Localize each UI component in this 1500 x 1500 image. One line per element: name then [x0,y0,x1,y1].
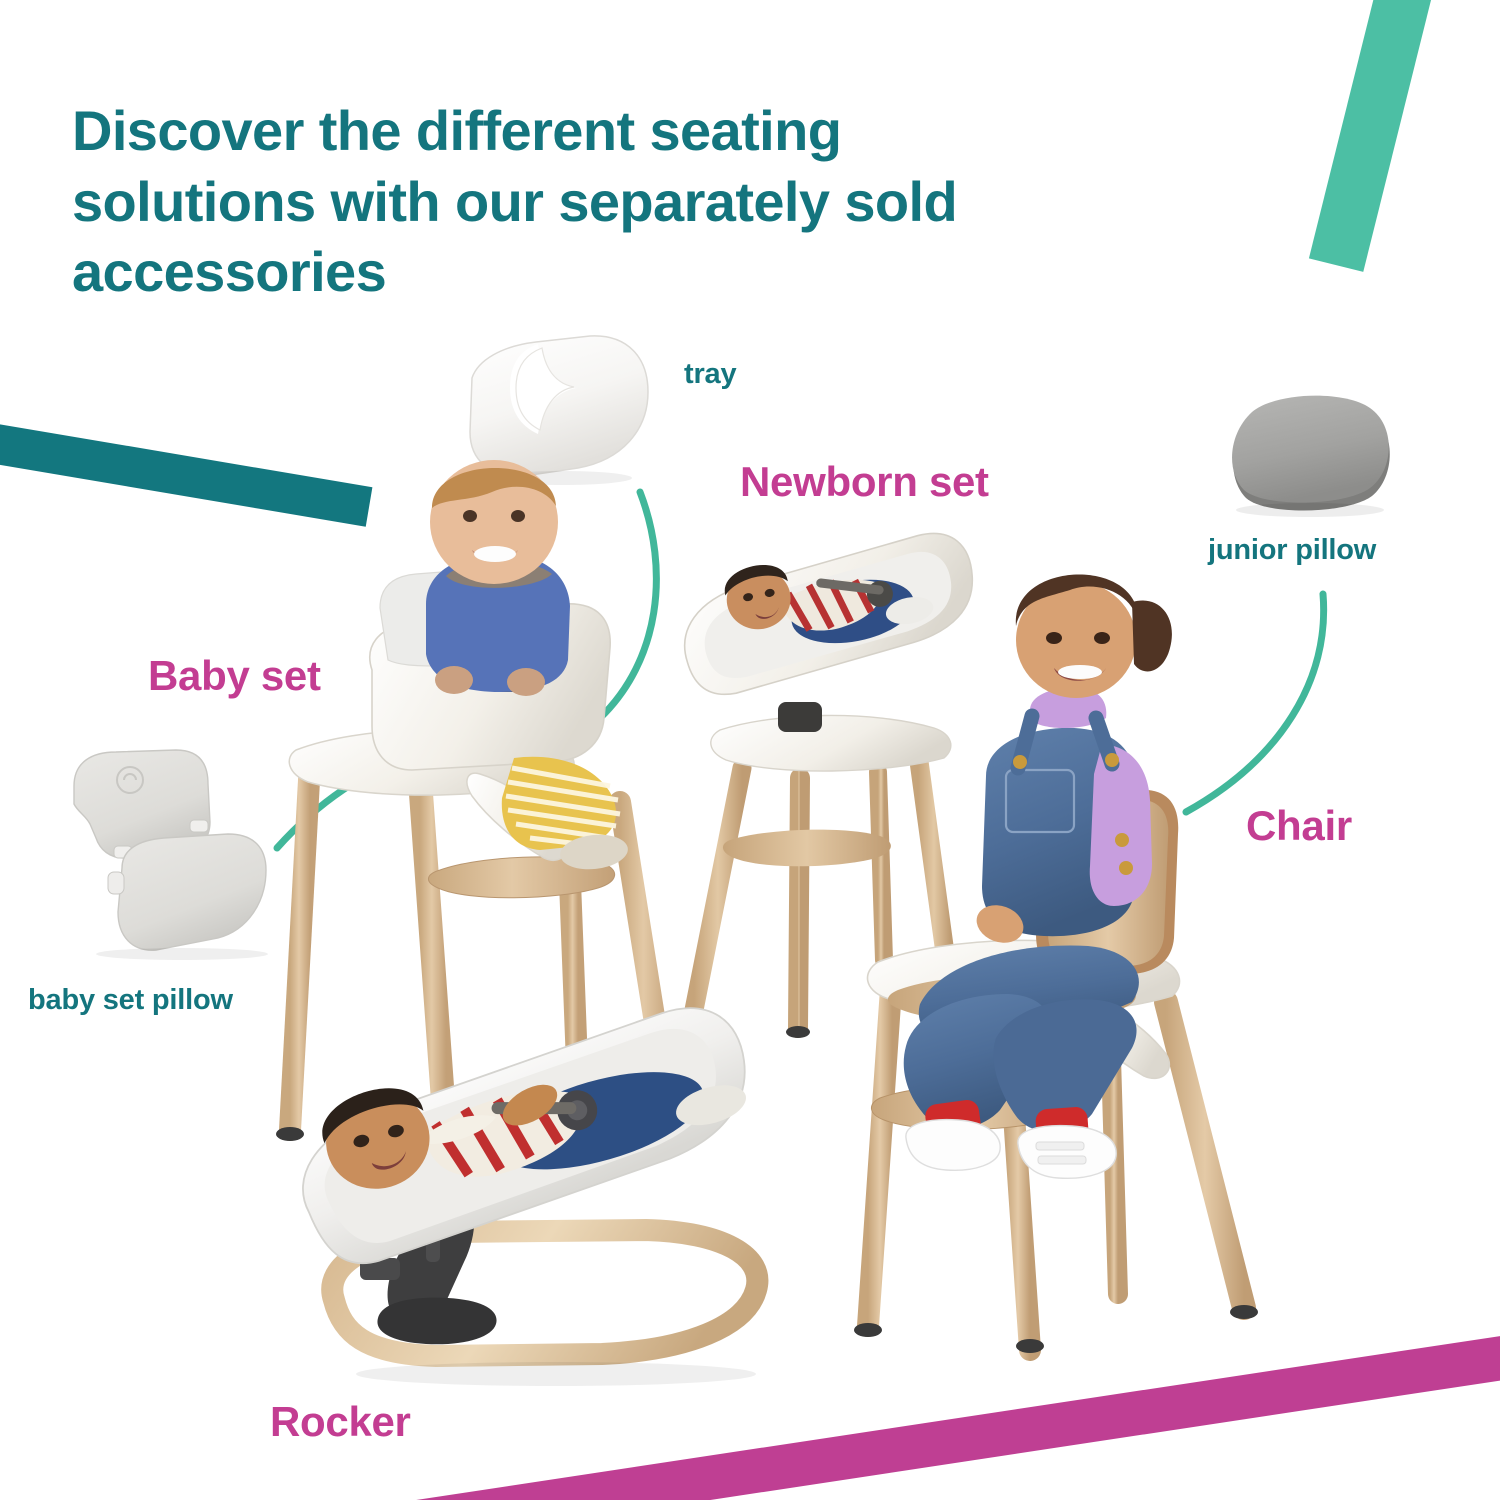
product-image-baby-set-pillow [52,746,292,962]
headline-line-3: accessories [72,240,386,303]
product-image-junior-pillow [1212,392,1408,518]
infographic-canvas: Discover the different seating solutions… [0,0,1500,1500]
label-baby-set-pillow: baby set pillow [28,984,233,1017]
decorative-bar-mint-top-right [1309,0,1443,272]
decorative-bar-teal-left [0,417,372,526]
product-image-chair-with-child [840,594,1290,1354]
label-tray: tray [684,358,736,391]
label-chair: Chair [1246,802,1352,850]
label-junior-pillow: junior pillow [1208,534,1376,567]
label-rocker: Rocker [270,1398,411,1446]
label-newborn-set: Newborn set [740,458,989,506]
label-baby-set: Baby set [148,652,321,700]
headline-line-2: solutions with our separately sold [72,170,957,233]
headline-line-1: Discover the different seating [72,99,841,162]
product-image-rocker [286,1050,806,1400]
page-title: Discover the different seating solutions… [72,96,1202,308]
